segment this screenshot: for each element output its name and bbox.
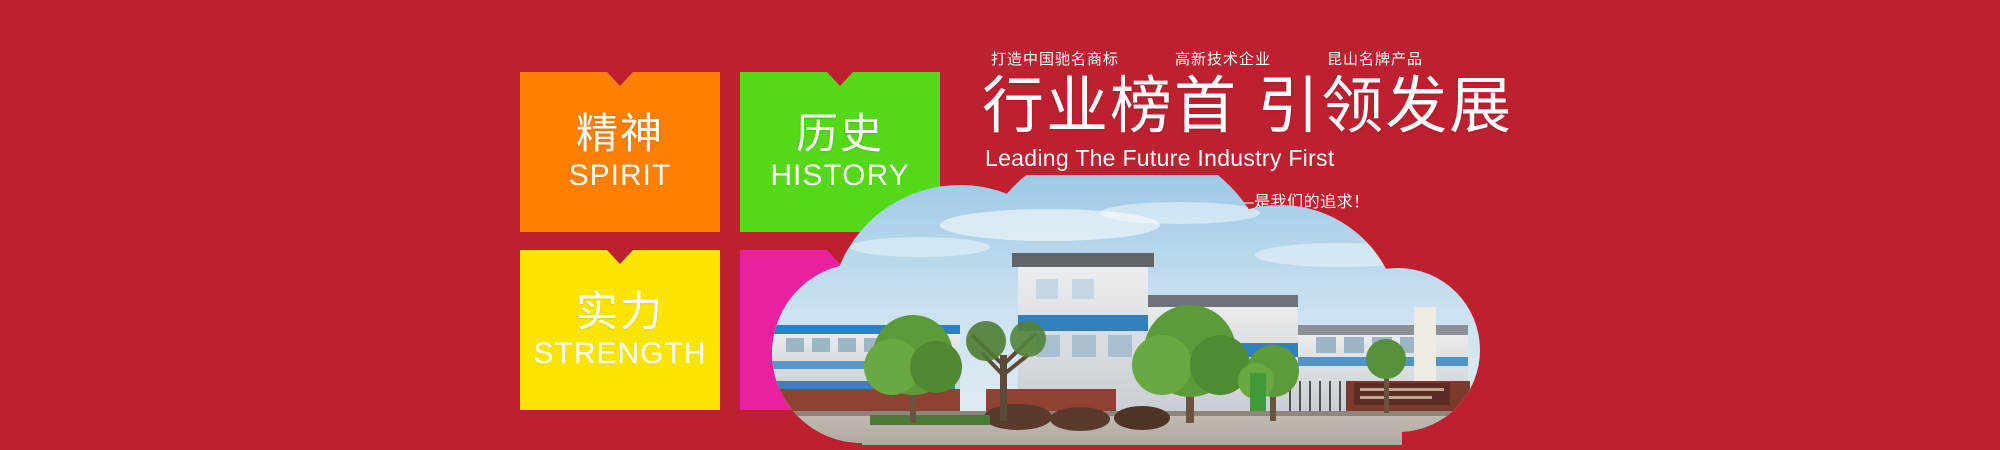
tile-strength[interactable]: 实力 STRENGTH <box>520 250 720 410</box>
tile-strength-label-en: STRENGTH <box>534 339 707 369</box>
page-title: 行业榜首 引领发展 <box>982 75 1605 139</box>
credential-list: 打造中国驰名商标 高新技术企业 昆山名牌产品 <box>985 48 1605 69</box>
tile-spirit-label-en: SPIRIT <box>569 161 672 191</box>
tile-history-label-cn: 历史 <box>796 113 884 155</box>
credential-item-hi-tech: 高新技术企业 <box>1175 48 1271 69</box>
page-subtitle: Leading The Future Industry First <box>985 145 1605 172</box>
tile-notch-icon <box>827 72 853 86</box>
credential-item-trademark: 打造中国驰名商标 <box>991 48 1119 69</box>
credential-item-brand: 昆山名牌产品 <box>1327 48 1423 69</box>
tile-strength-label-cn: 实力 <box>576 291 664 333</box>
tile-notch-icon <box>607 72 633 86</box>
promo-banner: 精神 SPIRIT 历史 HISTORY 实力 STRENGTH 未来 FUTU… <box>0 0 2000 450</box>
tile-notch-icon <box>607 250 633 264</box>
tile-spirit-label-cn: 精神 <box>576 113 664 155</box>
factory-photo-cloud <box>750 175 1480 450</box>
tile-spirit[interactable]: 精神 SPIRIT <box>520 72 720 232</box>
